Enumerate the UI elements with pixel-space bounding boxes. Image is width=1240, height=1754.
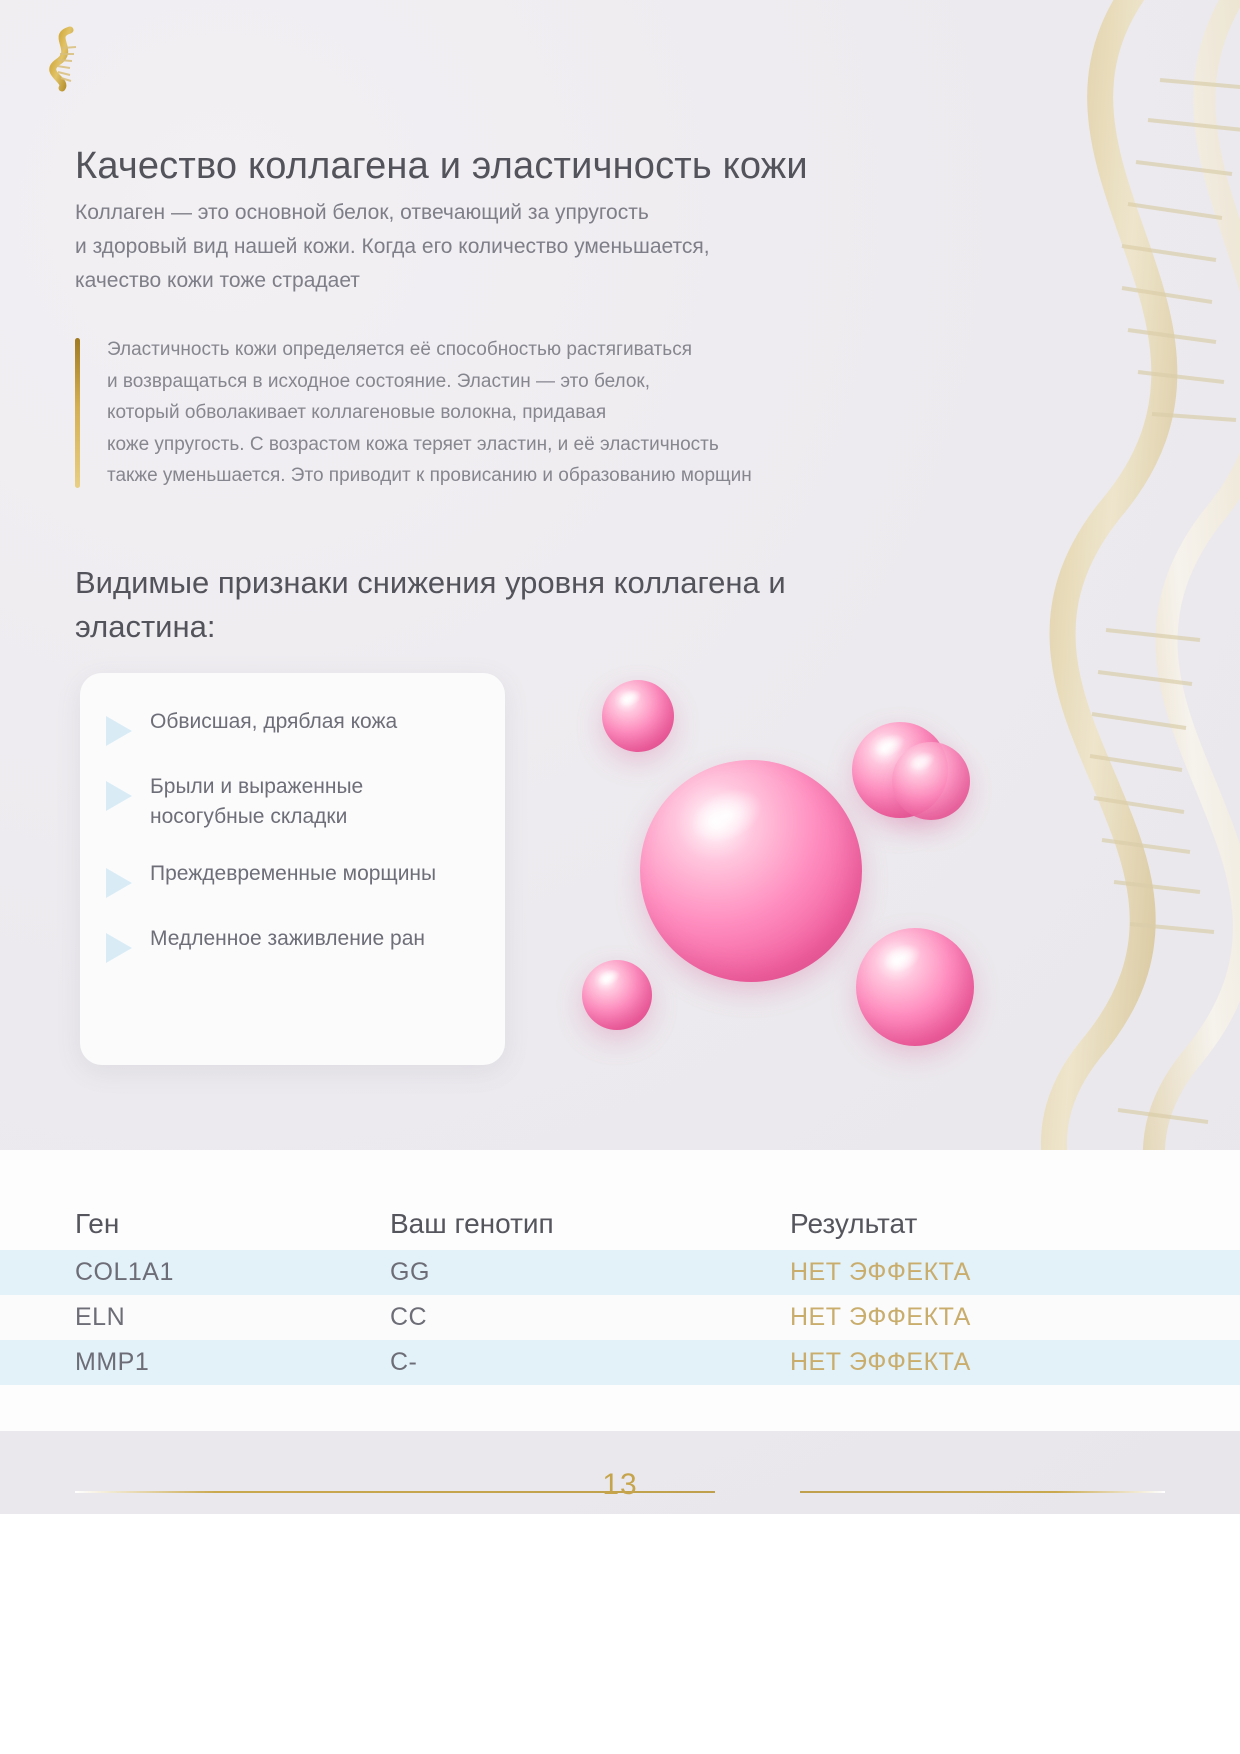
quote-line-3: который обволакивает коллагеновые волокн… — [107, 397, 1037, 429]
section-title: Видимые признаки снижения уровня коллаге… — [75, 561, 895, 649]
symptom-label: Брыли и выраженные носогубные складки — [150, 772, 475, 833]
status-badge: НЕТ ЭФФЕКТА — [790, 1258, 1170, 1287]
genotype-results-table: Ген Ваш генотип Результат COL1A1 GG НЕТ … — [0, 1150, 1240, 1431]
table-row: COL1A1 GG НЕТ ЭФФЕКТА — [0, 1250, 1240, 1295]
dna-helix-icon — [36, 22, 94, 94]
triangle-right-icon — [106, 716, 132, 746]
column-header-gene: Ген — [75, 1208, 390, 1240]
cell-genotype: C- — [390, 1348, 790, 1377]
status-badge: НЕТ ЭФФЕКТА — [790, 1348, 1170, 1377]
list-item: Медленное заживление ран — [106, 924, 475, 963]
table-top-spacer — [0, 1150, 1240, 1178]
list-item: Брыли и выраженные носогубные складки — [106, 772, 475, 833]
table-bottom-spacer — [0, 1385, 1240, 1431]
page-title: Качество коллагена и эластичность кожи — [75, 143, 1075, 191]
triangle-right-icon — [106, 868, 132, 898]
cell-gene: COL1A1 — [75, 1258, 390, 1287]
symptom-label: Преждевременные морщины — [150, 859, 436, 889]
cell-gene: ELN — [75, 1303, 390, 1332]
column-header-result: Результат — [790, 1208, 1170, 1240]
list-item: Преждевременные морщины — [106, 859, 475, 898]
symptoms-card: Обвисшая, дряблая кожа Брыли и выраженны… — [80, 673, 505, 1065]
cell-genotype: GG — [390, 1258, 790, 1287]
symptom-label: Медленное заживление ран — [150, 924, 425, 954]
list-item: Обвисшая, дряблая кожа — [106, 707, 475, 746]
quote-line-1: Эластичность кожи определяется её способ… — [107, 334, 1037, 366]
symptom-label: Обвисшая, дряблая кожа — [150, 707, 397, 737]
lead-line-3: качество кожи тоже страдает — [75, 264, 1005, 298]
lead-paragraph: Коллаген — это основной белок, отвечающи… — [75, 196, 1005, 298]
cell-genotype: CC — [390, 1303, 790, 1332]
quote-line-4: коже упругость. С возрастом кожа теряет … — [107, 429, 1037, 461]
page-footer — [0, 1514, 1240, 1754]
triangle-right-icon — [106, 781, 132, 811]
table-row: ELN CC НЕТ ЭФФЕКТА — [0, 1295, 1240, 1340]
cell-gene: MMP1 — [75, 1348, 390, 1377]
quote-line-5: также уменьшается. Это приводит к провис… — [107, 460, 1037, 492]
triangle-right-icon — [106, 933, 132, 963]
column-header-genotype: Ваш генотип — [390, 1208, 790, 1240]
quote-block: Эластичность кожи определяется её способ… — [75, 334, 1037, 492]
quote-line-2: и возвращаться в исходное состояние. Эла… — [107, 366, 1037, 398]
table-header-row: Ген Ваш генотип Результат — [0, 1178, 1240, 1250]
report-page: Качество коллагена и эластичность кожи К… — [0, 0, 1240, 1754]
lead-line-2: и здоровый вид нашей кожи. Когда его кол… — [75, 230, 1005, 264]
quote-accent-bar — [75, 338, 80, 488]
status-badge: НЕТ ЭФФЕКТА — [790, 1303, 1170, 1332]
page-number: 13 — [0, 1468, 1240, 1502]
lead-line-1: Коллаген — это основной белок, отвечающи… — [75, 196, 1005, 230]
table-row: MMP1 C- НЕТ ЭФФЕКТА — [0, 1340, 1240, 1385]
